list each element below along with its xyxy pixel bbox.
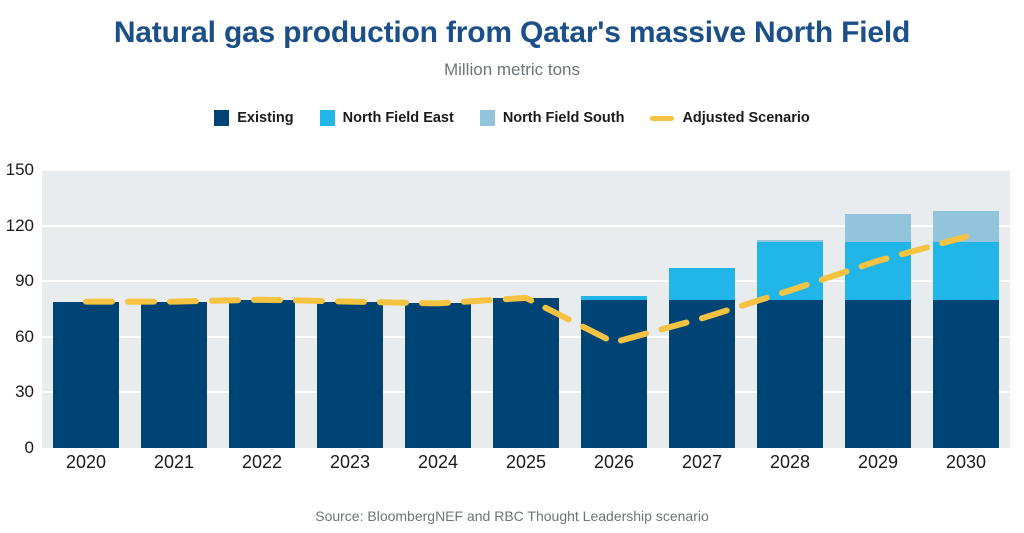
x-tick-label: 2028: [770, 452, 810, 473]
x-tick-label: 2025: [506, 452, 546, 473]
x-tick-label: 2022: [242, 452, 282, 473]
y-tick-label: 90: [0, 271, 34, 291]
bar-group[interactable]: [53, 170, 118, 448]
bar-segment[interactable]: [581, 300, 646, 448]
bar-segment[interactable]: [405, 303, 470, 448]
x-tick-label: 2021: [154, 452, 194, 473]
bar-segment[interactable]: [581, 296, 646, 300]
x-tick-label: 2027: [682, 452, 722, 473]
bars-layer: [42, 170, 1010, 448]
bar-segment[interactable]: [933, 211, 998, 243]
legend-item[interactable]: North Field East: [320, 110, 454, 126]
bar-group[interactable]: [669, 170, 734, 448]
legend-item[interactable]: North Field South: [480, 110, 625, 126]
legend-swatch-icon: [480, 110, 495, 126]
legend-item-label: North Field South: [503, 110, 625, 126]
chart-container: Natural gas production from Qatar's mass…: [0, 0, 1024, 533]
bar-segment[interactable]: [317, 302, 382, 448]
legend-item-label: North Field East: [343, 110, 454, 126]
bar-segment[interactable]: [493, 298, 558, 448]
bar-group[interactable]: [845, 170, 910, 448]
bar-segment[interactable]: [757, 242, 822, 299]
x-tick-label: 2024: [418, 452, 458, 473]
bar-segment[interactable]: [53, 302, 118, 448]
legend-item-label: Existing: [237, 110, 293, 126]
x-tick-label: 2030: [946, 452, 986, 473]
bar-segment[interactable]: [757, 240, 822, 242]
plot-area: [42, 170, 1010, 448]
y-axis-labels: 1501209060300: [0, 170, 34, 448]
y-tick-label: 30: [0, 382, 34, 402]
bar-segment[interactable]: [933, 242, 998, 299]
x-tick-label: 2026: [594, 452, 634, 473]
x-tick-label: 2020: [66, 452, 106, 473]
x-tick-label: 2029: [858, 452, 898, 473]
bar-group[interactable]: [405, 170, 470, 448]
legend-dash-icon: [650, 116, 674, 121]
bar-segment[interactable]: [669, 268, 734, 300]
bar-segment[interactable]: [669, 300, 734, 448]
bar-segment[interactable]: [757, 300, 822, 448]
y-tick-label: 60: [0, 327, 34, 347]
source-note: Source: BloombergNEF and RBC Thought Lea…: [0, 508, 1024, 524]
bar-group[interactable]: [933, 170, 998, 448]
legend-item[interactable]: Adjusted Scenario: [650, 110, 809, 126]
bar-group[interactable]: [317, 170, 382, 448]
bar-segment[interactable]: [845, 214, 910, 242]
chart-subtitle: Million metric tons: [0, 60, 1024, 80]
y-tick-label: 0: [0, 438, 34, 458]
y-tick-label: 120: [0, 216, 34, 236]
bar-group[interactable]: [757, 170, 822, 448]
bar-group[interactable]: [493, 170, 558, 448]
x-axis-labels: 2020202120222023202420252026202720282029…: [42, 452, 1010, 482]
bar-segment[interactable]: [845, 242, 910, 299]
bar-group[interactable]: [581, 170, 646, 448]
bar-segment[interactable]: [141, 302, 206, 448]
chart-title: Natural gas production from Qatar's mass…: [0, 16, 1024, 50]
legend-item-label: Adjusted Scenario: [682, 110, 809, 126]
legend-swatch-icon: [214, 110, 229, 126]
chart-legend: ExistingNorth Field EastNorth Field Sout…: [0, 110, 1024, 126]
bar-group[interactable]: [141, 170, 206, 448]
y-tick-label: 150: [0, 160, 34, 180]
bar-group[interactable]: [229, 170, 294, 448]
bar-segment[interactable]: [933, 300, 998, 448]
bar-segment[interactable]: [845, 300, 910, 448]
x-tick-label: 2023: [330, 452, 370, 473]
bar-segment[interactable]: [229, 300, 294, 448]
legend-item[interactable]: Existing: [214, 110, 293, 126]
legend-swatch-icon: [320, 110, 335, 126]
